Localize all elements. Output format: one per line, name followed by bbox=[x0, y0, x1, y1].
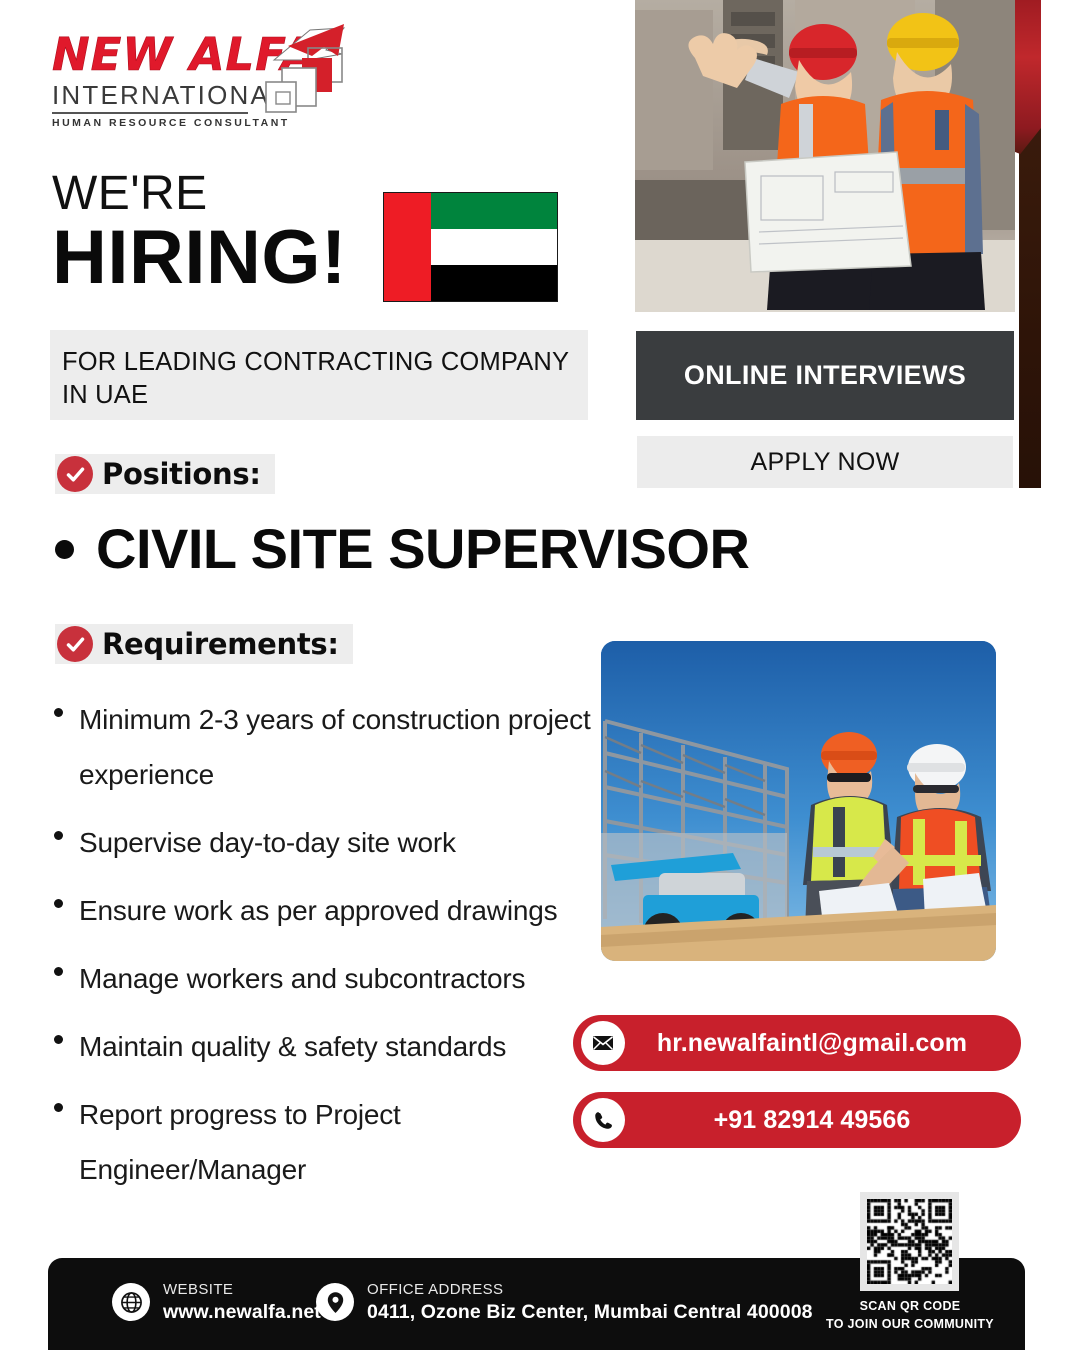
check-circle-icon bbox=[57, 626, 93, 662]
headline-line1: WE'RE bbox=[52, 166, 208, 221]
globe-icon bbox=[112, 1283, 150, 1321]
red-arrow-squares-logo-mark-icon bbox=[252, 16, 348, 124]
bullet bbox=[54, 831, 63, 840]
position-item: CIVIL SITE SUPERVISOR bbox=[55, 518, 749, 580]
address-label: OFFICE ADDRESS bbox=[367, 1281, 503, 1298]
check-circle-icon bbox=[57, 456, 93, 492]
requirement-text: Minimum 2-3 years of construction projec… bbox=[79, 692, 591, 802]
location-pin-icon bbox=[316, 1283, 354, 1321]
apply-now-button[interactable]: APPLY NOW bbox=[637, 436, 1013, 488]
flag-green-stripe bbox=[431, 193, 557, 229]
footer-address-item: OFFICE ADDRESS 0411, Ozone Biz Center, M… bbox=[316, 1280, 813, 1324]
requirements-section-header: Requirements: bbox=[55, 624, 353, 664]
headline-line2: HIRING! bbox=[52, 216, 347, 300]
qr-code[interactable] bbox=[860, 1192, 959, 1291]
flag-stripes bbox=[431, 193, 557, 301]
online-interviews-label: ONLINE INTERVIEWS bbox=[684, 360, 966, 391]
qr-caption-line2: TO JOIN OUR COMMUNITY bbox=[826, 1317, 994, 1331]
address-value: 0411, Ozone Biz Center, Mumbai Central 4… bbox=[367, 1301, 813, 1323]
online-interviews-button[interactable]: ONLINE INTERVIEWS bbox=[636, 331, 1014, 420]
list-item: Report progress to Project Engineer/Mana… bbox=[46, 1087, 591, 1197]
bullet bbox=[54, 967, 63, 976]
flag-black-stripe bbox=[431, 265, 557, 301]
logo-divider bbox=[52, 112, 248, 114]
footer-website-item[interactable]: WEBSITE www.newalfa.net bbox=[112, 1280, 321, 1324]
bullet bbox=[54, 708, 63, 717]
qr-code-image bbox=[867, 1199, 952, 1284]
brown-accent-strip bbox=[1019, 120, 1041, 488]
uae-flag-icon bbox=[383, 192, 558, 302]
email-value: hr.newalfaintl@gmail.com bbox=[625, 1029, 1021, 1058]
list-item: Maintain quality & safety standards bbox=[46, 1019, 591, 1074]
list-item: Minimum 2-3 years of construction projec… bbox=[46, 692, 591, 802]
subtitle-band: FOR LEADING CONTRACTING COMPANY IN UAE bbox=[50, 330, 588, 420]
requirements-list: Minimum 2-3 years of construction projec… bbox=[46, 692, 591, 1210]
requirements-label: Requirements: bbox=[102, 627, 339, 661]
website-value: www.newalfa.net bbox=[163, 1301, 321, 1323]
bullet bbox=[54, 1035, 63, 1044]
qr-caption: SCAN QR CODE TO JOIN OUR COMMUNITY bbox=[790, 1297, 1030, 1333]
apply-now-label: APPLY NOW bbox=[750, 448, 899, 477]
list-item: Manage workers and subcontractors bbox=[46, 951, 591, 1006]
bullet bbox=[54, 1103, 63, 1112]
email-contact-pill[interactable]: hr.newalfaintl@gmail.com bbox=[573, 1015, 1021, 1071]
construction-site-steel-frame-photo bbox=[601, 641, 996, 961]
phone-value: +91 82914 49566 bbox=[625, 1106, 1021, 1135]
phone-icon bbox=[581, 1098, 625, 1142]
positions-label: Positions: bbox=[102, 457, 261, 491]
subtitle-text: FOR LEADING CONTRACTING COMPANY IN UAE bbox=[62, 346, 576, 412]
requirement-text: Manage workers and subcontractors bbox=[79, 951, 525, 1006]
position-bullet bbox=[55, 540, 74, 559]
requirement-text: Report progress to Project Engineer/Mana… bbox=[79, 1087, 591, 1197]
list-item: Ensure work as per approved drawings bbox=[46, 883, 591, 938]
construction-workers-blueprint-photo bbox=[635, 0, 1015, 312]
positions-section-header: Positions: bbox=[55, 454, 275, 494]
position-title: CIVIL SITE SUPERVISOR bbox=[96, 518, 749, 580]
requirement-text: Maintain quality & safety standards bbox=[79, 1019, 506, 1074]
flag-white-stripe bbox=[431, 229, 557, 265]
requirement-text: Supervise day-to-day site work bbox=[79, 815, 456, 870]
phone-contact-pill[interactable]: +91 82914 49566 bbox=[573, 1092, 1021, 1148]
requirement-text: Ensure work as per approved drawings bbox=[79, 883, 557, 938]
bullet bbox=[54, 899, 63, 908]
envelope-icon bbox=[581, 1021, 625, 1065]
flag-red-band bbox=[384, 193, 431, 301]
website-label: WEBSITE bbox=[163, 1281, 233, 1298]
list-item: Supervise day-to-day site work bbox=[46, 815, 591, 870]
qr-caption-line1: SCAN QR CODE bbox=[860, 1299, 961, 1313]
